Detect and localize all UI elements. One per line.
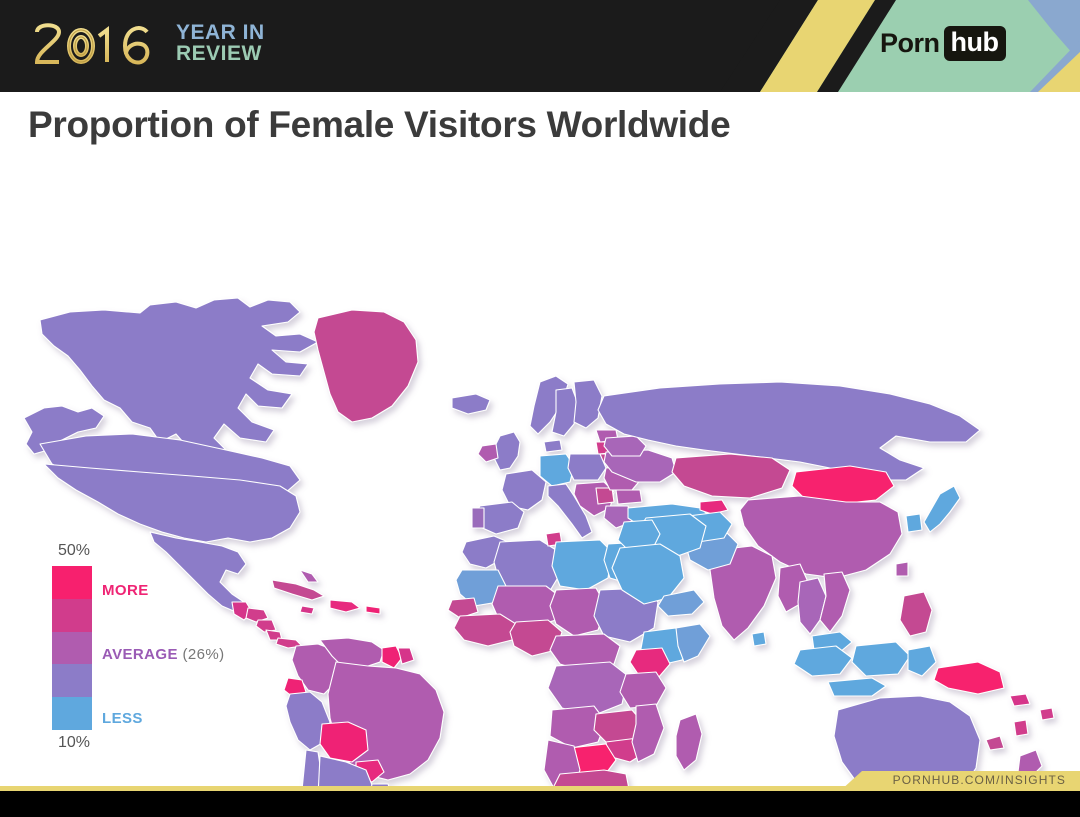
country-sweden [552, 388, 578, 436]
legend-band-average [52, 632, 92, 665]
header-banner: YEAR IN REVIEW Porn hub [0, 0, 1080, 92]
country-sri-lanka [752, 632, 766, 646]
country-vanuatu [1014, 720, 1028, 736]
country-fiji-islands [1040, 708, 1054, 720]
country-guinea-coast [454, 614, 516, 646]
legend-band-less [52, 697, 92, 730]
country-georgia [700, 500, 728, 514]
country-vietnam [820, 572, 850, 632]
year-logo [31, 18, 171, 74]
country-mozambique [632, 704, 664, 762]
country-ireland [478, 444, 498, 462]
legend-band-more [52, 566, 92, 599]
country-madagascar [676, 714, 702, 770]
country-borneo [852, 642, 910, 676]
country-tanzania [620, 672, 666, 708]
legend-band-high [52, 599, 92, 632]
country-bolivia [320, 722, 368, 762]
world-map-container [0, 150, 1080, 790]
country-indonesia-java [828, 678, 886, 696]
yir-line2: REVIEW [176, 43, 265, 64]
country-south-korea [906, 514, 922, 532]
country-belarus [604, 436, 646, 456]
world-choropleth-map [0, 150, 1080, 790]
country-united-kingdom [494, 432, 520, 470]
country-thailand [798, 578, 826, 634]
year-in-review-text: YEAR IN REVIEW [176, 22, 265, 64]
legend-min-value: 10% [58, 734, 90, 752]
country-mexico [150, 532, 246, 612]
country-taiwan [896, 562, 908, 576]
infographic-page: YEAR IN REVIEW Porn hub Proportion of Fe… [0, 0, 1080, 817]
country-bahamas [300, 570, 318, 582]
legend-label-less: LESS [102, 710, 143, 727]
country-kazakhstan [672, 454, 790, 498]
footer-url-text: PORNHUB.COM/INSIGHTS [893, 773, 1066, 787]
country-finland [574, 380, 602, 428]
country-papua-new-guinea [934, 662, 1004, 694]
legend-label-more: MORE [102, 582, 149, 599]
country-jamaica [300, 606, 314, 614]
country-portugal [472, 508, 484, 528]
country-bulgaria [616, 490, 642, 504]
brand-hub-badge: hub [944, 26, 1006, 61]
legend-average-value: (26%) [182, 646, 224, 663]
country-cuba [272, 580, 324, 600]
pornhub-logo[interactable]: Porn hub [880, 26, 1006, 61]
bottom-black-bar [0, 791, 1080, 817]
country-sulawesi [908, 646, 936, 676]
legend-band-low [52, 664, 92, 697]
country-poland [568, 454, 606, 480]
legend-gradient-bar [52, 566, 92, 730]
country-solomon-islands [1010, 694, 1030, 706]
country-suriname [398, 648, 414, 664]
footer-url-banner: PORNHUB.COM/INSIGHTS [840, 771, 1080, 791]
legend-max-value: 50% [58, 542, 90, 560]
country-new-caledonia [986, 736, 1004, 750]
country-philippines [900, 592, 932, 636]
year-2016-glyphs [31, 18, 171, 74]
country-haiti-dominican [330, 600, 360, 612]
country-iceland [452, 394, 490, 414]
country-japan [924, 486, 960, 532]
country-denmark [544, 440, 562, 452]
legend-label-average: AVERAGE (26%) [102, 646, 224, 663]
legend-average-text: AVERAGE [102, 646, 178, 663]
yir-line1: YEAR IN [176, 22, 265, 43]
country-libya [552, 540, 612, 590]
page-title: Proportion of Female Visitors Worldwide [28, 104, 730, 146]
country-puerto-rico [366, 606, 380, 614]
country-greenland [314, 310, 418, 422]
country-indonesia-sumatra [794, 646, 852, 676]
brand-porn-text: Porn [880, 28, 940, 59]
